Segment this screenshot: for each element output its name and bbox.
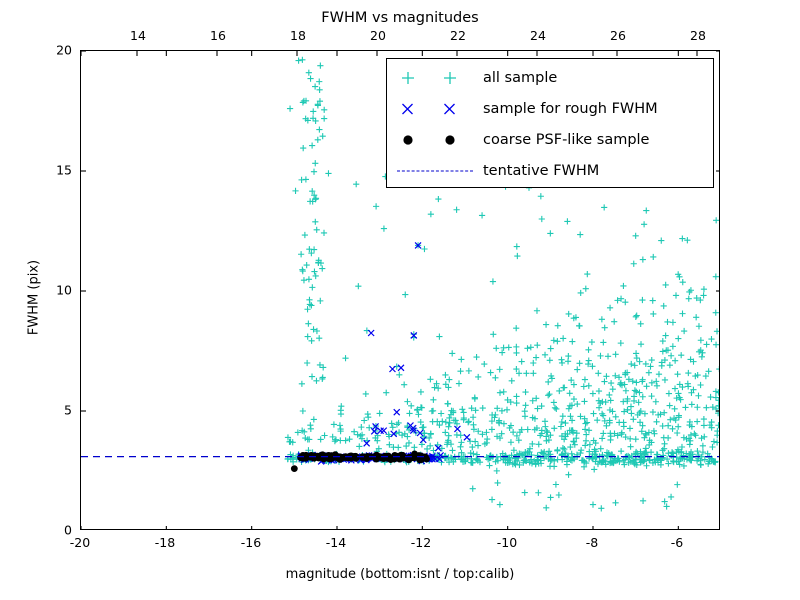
legend-marker-circle-icon <box>387 124 483 155</box>
y-axis-label: FWHM (pix) <box>27 98 42 498</box>
chart-title: FWHM vs magnitudes <box>0 10 800 26</box>
y-tick-4: 20 <box>44 43 72 58</box>
legend-entry-coarse-psf: coarse PSF-like sample <box>387 124 713 155</box>
x-bottom-tick-5: -10 <box>497 535 517 550</box>
x-bottom-tick-0: -20 <box>70 535 90 550</box>
chart-figure: FWHM vs magnitudes 14 16 18 20 22 24 26 … <box>0 0 800 600</box>
x-top-tick-5: 24 <box>530 28 546 43</box>
x-top-tick-6: 26 <box>610 28 626 43</box>
x-top-tick-4: 22 <box>450 28 466 43</box>
legend-entry-rough-fwhm: sample for rough FWHM <box>387 93 713 124</box>
x-bottom-tick-2: -16 <box>241 535 261 550</box>
x-top-tick-0: 14 <box>130 28 146 43</box>
x-top-tick-2: 18 <box>290 28 306 43</box>
legend: all sample sample for rough FWHM <box>386 58 714 188</box>
legend-entry-tentative-fwhm: tentative FWHM <box>387 155 713 186</box>
x-top-tick-7: 28 <box>690 28 706 43</box>
x-axis-label: magnitude (bottom:isnt / top:calib) <box>0 567 800 582</box>
x-top-tick-3: 20 <box>370 28 386 43</box>
y-tick-0: 0 <box>44 523 72 538</box>
legend-label-1: sample for rough FWHM <box>483 101 658 117</box>
y-tick-2: 10 <box>44 283 72 298</box>
legend-marker-x-icon <box>387 93 483 124</box>
x-bottom-tick-1: -18 <box>155 535 175 550</box>
y-tick-3: 15 <box>44 163 72 178</box>
y-tick-1: 5 <box>44 403 72 418</box>
x-bottom-tick-4: -12 <box>411 535 431 550</box>
legend-entry-all-sample: all sample <box>387 62 713 93</box>
legend-marker-plus-icon <box>387 62 483 93</box>
legend-label-0: all sample <box>483 70 557 86</box>
x-top-tick-1: 16 <box>210 28 226 43</box>
legend-label-3: tentative FWHM <box>483 163 599 179</box>
x-bottom-tick-7: -6 <box>671 535 683 550</box>
legend-marker-dashed-line-icon <box>387 155 483 186</box>
legend-label-2: coarse PSF-like sample <box>483 132 649 148</box>
x-bottom-tick-6: -8 <box>586 535 598 550</box>
x-bottom-tick-3: -14 <box>326 535 346 550</box>
